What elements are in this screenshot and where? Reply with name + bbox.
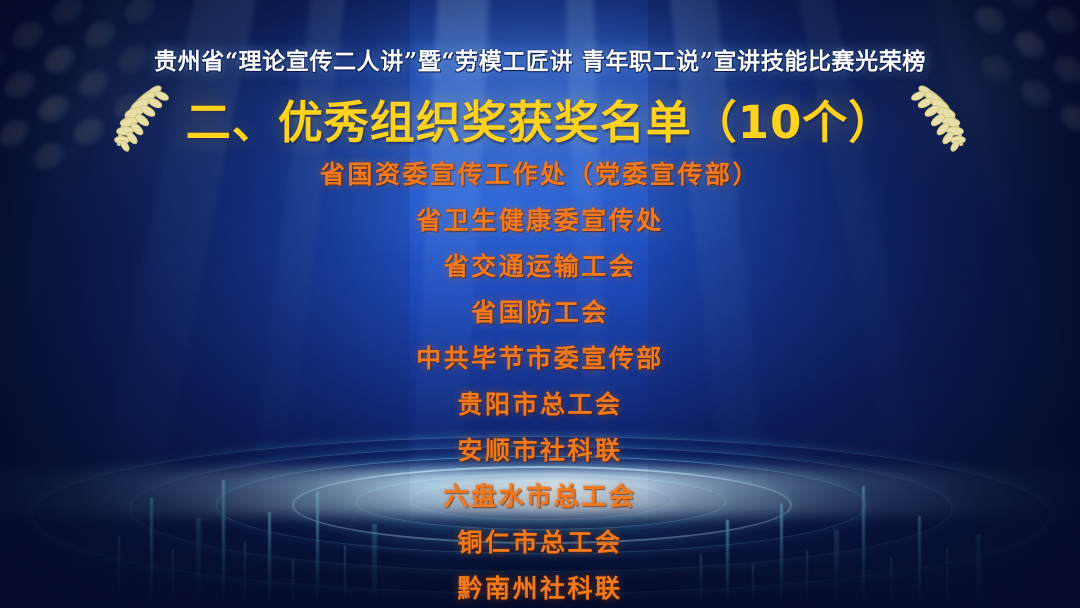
slide-canvas: 贵州省“理论宣传二人讲”暨“劳模工匠讲 青年职工说”宣讲技能比赛光荣榜 bbox=[0, 0, 1080, 608]
slide-content: 贵州省“理论宣传二人讲”暨“劳模工匠讲 青年职工说”宣讲技能比赛光荣榜 bbox=[0, 0, 1080, 608]
slide-header-text: 贵州省“理论宣传二人讲”暨“劳模工匠讲 青年职工说”宣讲技能比赛光荣榜 bbox=[0, 42, 1080, 76]
award-list-item: 安顺市社科联 bbox=[457, 428, 622, 474]
award-winner-list: 省国资委宣传工作处（党委宣传部） 省卫生健康委宣传处 省交通运输工会 省国防工会… bbox=[0, 152, 1080, 608]
award-list-item: 省国资委宣传工作处（党委宣传部） bbox=[320, 152, 760, 198]
award-list-item: 六盘水市总工会 bbox=[444, 474, 637, 520]
laurel-branch-left-icon bbox=[110, 83, 174, 153]
title-row: 二、优秀组织奖获奖名单（10个） bbox=[0, 82, 1080, 154]
laurel-branch-right-icon bbox=[906, 83, 970, 153]
page-title: 二、优秀组织奖获奖名单（10个） bbox=[186, 86, 895, 151]
award-list-item: 贵阳市总工会 bbox=[457, 382, 622, 428]
award-list-item: 省国防工会 bbox=[471, 290, 609, 336]
award-list-item: 省卫生健康委宣传处 bbox=[416, 198, 664, 244]
award-list-item: 中共毕节市委宣传部 bbox=[416, 336, 664, 382]
award-list-item: 铜仁市总工会 bbox=[457, 520, 622, 566]
award-list-item: 省交通运输工会 bbox=[444, 244, 637, 290]
award-list-item: 黔南州社科联 bbox=[457, 566, 622, 608]
